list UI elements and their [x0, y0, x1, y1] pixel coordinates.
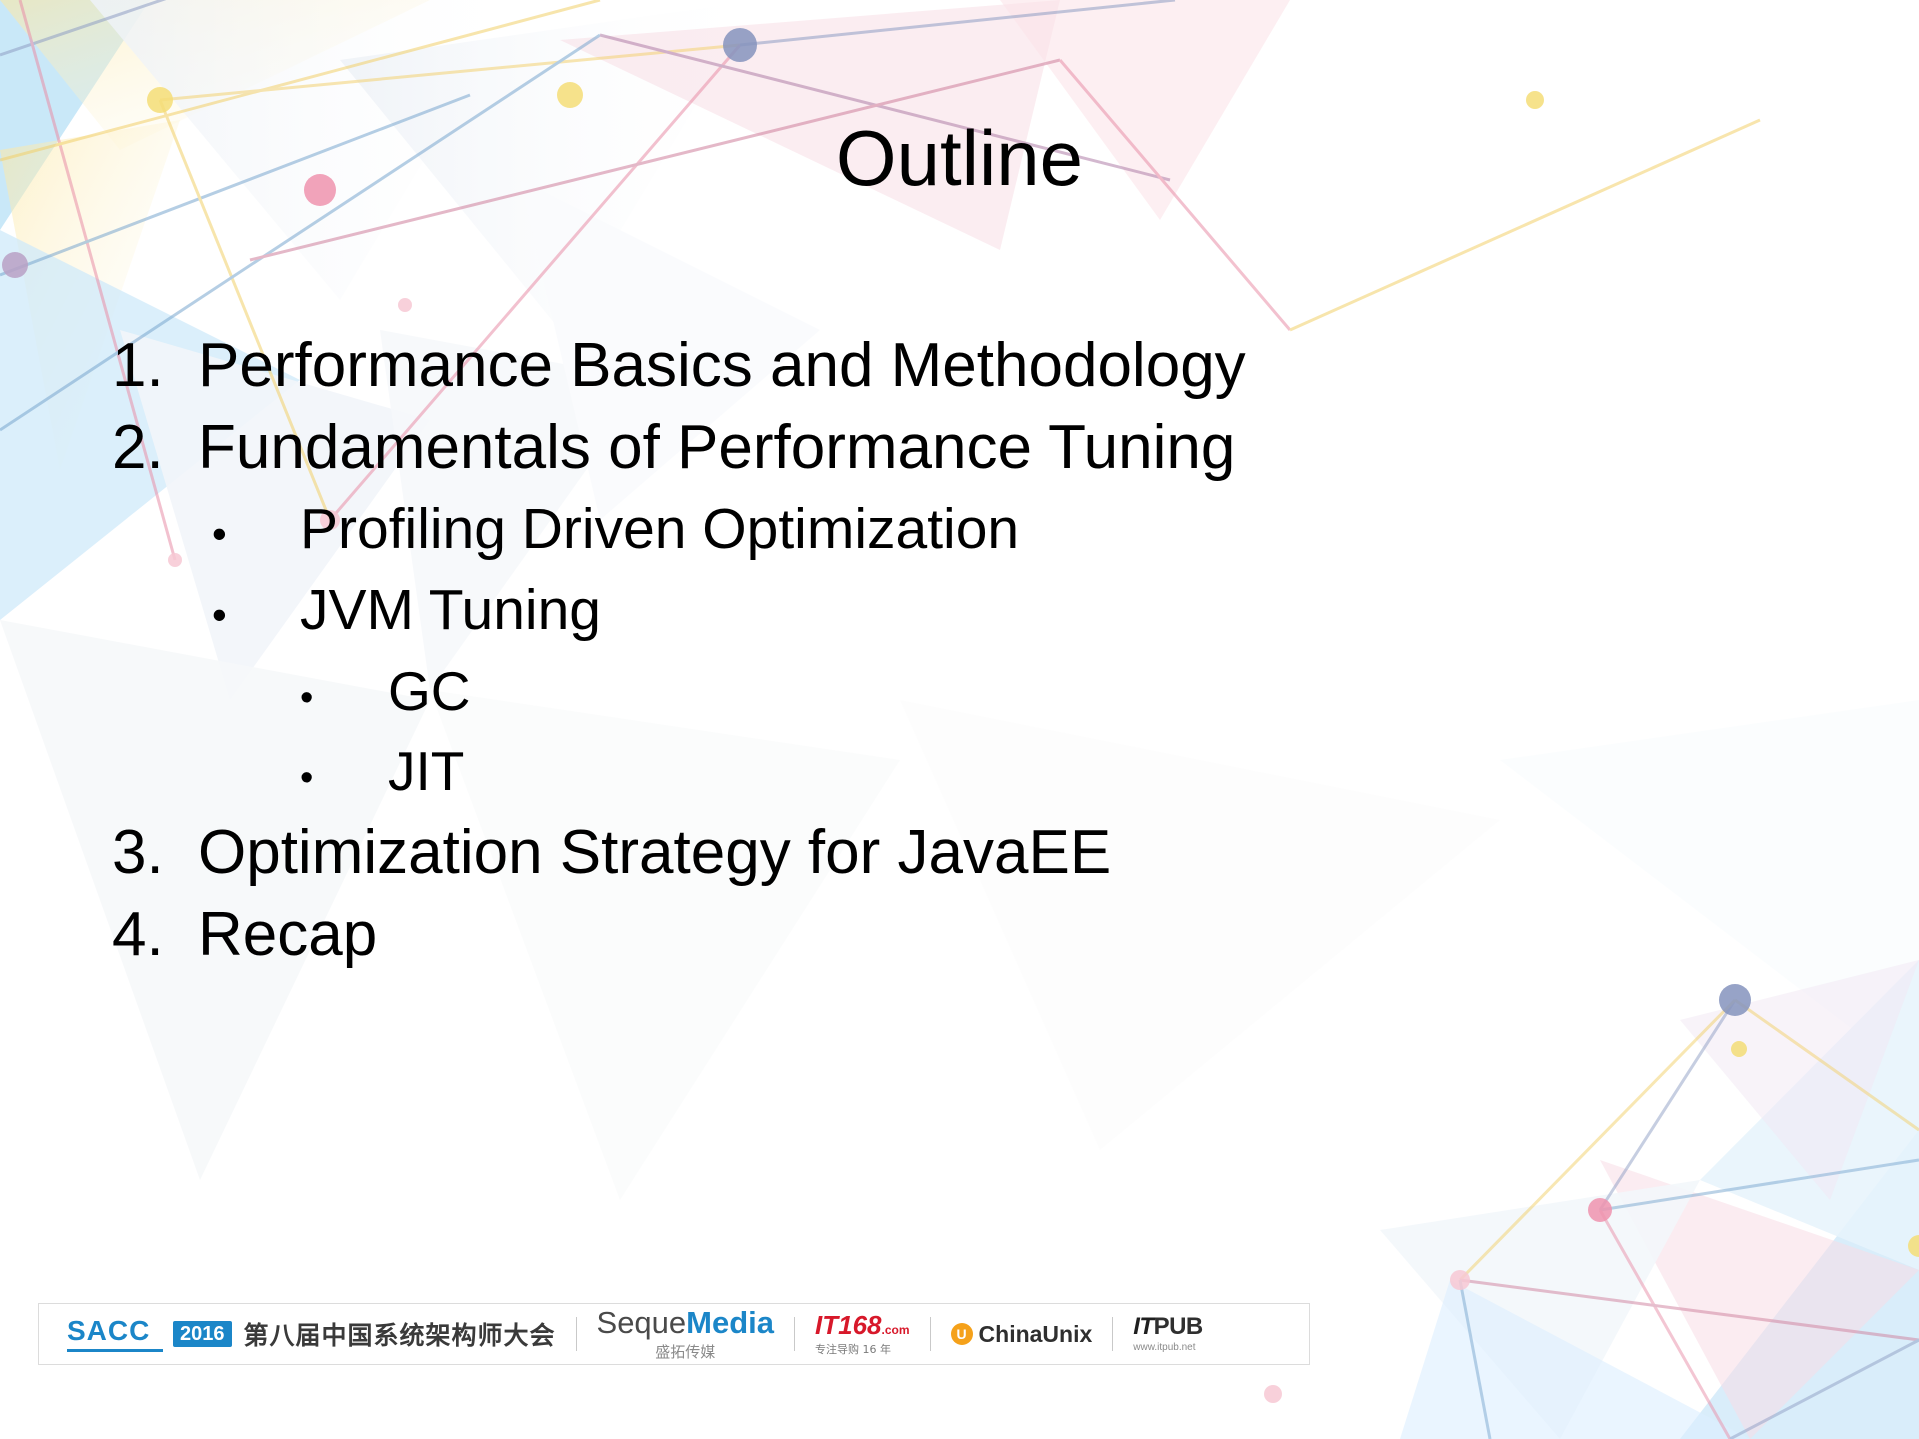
sacc-logo: SACC [67, 1317, 163, 1352]
logo-divider [576, 1317, 577, 1351]
sequemedia-word-a: Seque [597, 1305, 687, 1340]
outline-subsubitem: • JIT [0, 731, 1500, 812]
sacc-logo-group: SACC 2016 第八届中国系统架构师大会 [39, 1304, 556, 1364]
bullet-icon: • [212, 504, 300, 564]
it168-logo-group: IT168.com 专注导购 16 年 [815, 1304, 910, 1364]
outline-item-label: Fundamentals of Performance Tuning [198, 407, 1235, 489]
sacc-year-badge: 2016 [173, 1321, 232, 1347]
it168-logo: IT168.com 专注导购 16 年 [815, 1312, 910, 1357]
it168-chinese-tagline: 专注导购 16 年 [815, 1341, 910, 1357]
chinaunix-logo: U ChinaUnix [951, 1321, 1093, 1348]
itpub-word-it: IT [1133, 1313, 1153, 1340]
bullet-icon: • [300, 671, 388, 727]
outline-subitem-label: JVM Tuning [300, 570, 601, 651]
itpub-url: www.itpub.net [1133, 1342, 1203, 1353]
chinaunix-circle-icon: U [951, 1323, 973, 1345]
chinaunix-logo-group: U ChinaUnix [951, 1304, 1093, 1364]
outline-item: 2. Fundamentals of Performance Tuning [0, 407, 1500, 489]
outline-subsubitem: • GC [0, 651, 1500, 732]
sequemedia-logo: SequeMedia 盛拓传媒 [597, 1307, 775, 1362]
bullet-icon: • [300, 751, 388, 807]
presentation-slide: Outline 1. Performance Basics and Method… [0, 0, 1919, 1439]
itpub-wordmark: ITPUB [1133, 1315, 1203, 1339]
chinaunix-wordmark: ChinaUnix [979, 1321, 1093, 1348]
outline-subsubitem-label: GC [388, 651, 471, 732]
sequemedia-logo-group: SequeMedia 盛拓传媒 [597, 1304, 775, 1364]
sequemedia-word-b: Media [686, 1305, 774, 1340]
itpub-word-pub: PUB [1154, 1313, 1203, 1340]
outline-item: 3. Optimization Strategy for JavaEE [0, 812, 1500, 894]
list-marker: 2. [112, 407, 198, 489]
outline-item-label: Recap [198, 894, 377, 976]
logo-divider [794, 1317, 795, 1351]
outline-subsubitem-label: JIT [388, 731, 464, 812]
slide-title: Outline [0, 118, 1919, 200]
outline-subitem: • Profiling Driven Optimization [0, 489, 1500, 570]
itpub-logo: ITPUB www.itpub.net [1133, 1315, 1203, 1353]
outline-item: 1. Performance Basics and Methodology [0, 325, 1500, 407]
list-marker: 3. [112, 812, 198, 894]
outline-list: 1. Performance Basics and Methodology 2.… [0, 325, 1500, 976]
outline-item-label: Performance Basics and Methodology [198, 325, 1246, 407]
sacc-underline [67, 1349, 163, 1352]
bullet-icon: • [212, 585, 300, 645]
outline-subitem: • JVM Tuning [0, 570, 1500, 651]
it168-wordmark: IT168.com [815, 1312, 910, 1338]
sequemedia-chinese: 盛拓传媒 [597, 1341, 775, 1362]
sponsor-logo-bar: SACC 2016 第八届中国系统架构师大会 SequeMedia 盛拓传媒 I… [38, 1303, 1310, 1365]
sacc-wordmark: SACC [67, 1317, 163, 1345]
logo-divider [930, 1317, 931, 1351]
itpub-logo-group: ITPUB www.itpub.net [1133, 1304, 1203, 1364]
list-marker: 4. [112, 894, 198, 976]
outline-item: 4. Recap [0, 894, 1500, 976]
logo-divider [1112, 1317, 1113, 1351]
it168-word-main: IT168 [815, 1310, 882, 1340]
sequemedia-wordmark: SequeMedia [597, 1307, 775, 1338]
it168-word-suffix: .com [882, 1323, 910, 1337]
sacc-chinese-title: 第八届中国系统架构师大会 [244, 1316, 556, 1352]
list-marker: 1. [112, 325, 198, 407]
outline-item-label: Optimization Strategy for JavaEE [198, 812, 1111, 894]
outline-subitem-label: Profiling Driven Optimization [300, 489, 1019, 570]
